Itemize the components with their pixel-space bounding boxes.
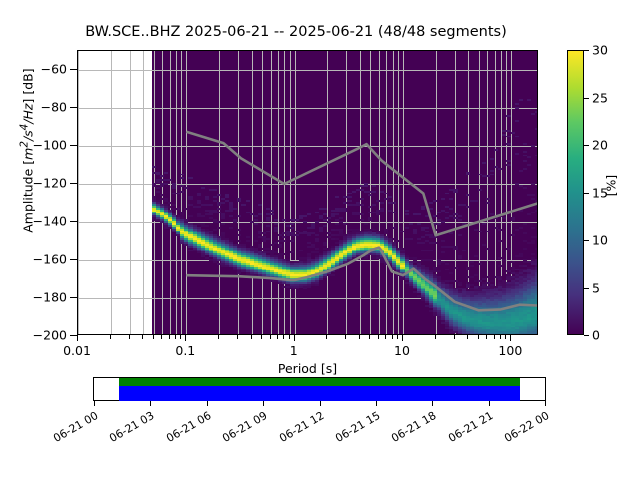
data-coverage-bar: [119, 378, 520, 386]
x-tick-minor: [369, 335, 370, 339]
y-tick: [70, 145, 77, 146]
x-tick-minor: [478, 335, 479, 339]
x-tick-minor: [378, 335, 379, 339]
colorbar-tick-label: 30: [592, 43, 608, 58]
timeline-tick: [94, 401, 95, 406]
colorbar-tick: [584, 98, 589, 99]
colorbar-tick-label: 25: [592, 90, 608, 105]
x-tick-major: [77, 335, 78, 341]
psd-segments-bar: [119, 386, 520, 401]
timeline-tick: [150, 401, 151, 406]
x-tick-minor: [180, 335, 181, 339]
y-tick: [70, 221, 77, 222]
x-tick-minor: [283, 335, 284, 339]
x-tick-minor: [161, 335, 162, 339]
timeline-tick-label: 06-21 21: [440, 409, 495, 448]
colorbar-tick: [584, 335, 589, 336]
x-tick-minor: [237, 335, 238, 339]
y-tick-label: −160: [33, 252, 67, 267]
x-tick-minor: [289, 335, 290, 339]
x-tick-minor: [110, 335, 111, 339]
x-tick-major: [185, 335, 186, 341]
timeline-tick-label: 06-21 15: [327, 409, 382, 448]
y-tick: [70, 297, 77, 298]
ppsd-plot-area[interactable]: [77, 50, 538, 335]
x-tick-major: [402, 335, 403, 341]
x-tick-minor: [326, 335, 327, 339]
x-tick-minor: [500, 335, 501, 339]
ppsd-figure: BW.SCE..BHZ 2025-06-21 -- 2025-06-21 (48…: [0, 0, 640, 480]
x-tick-minor: [397, 335, 398, 339]
x-tick-minor: [486, 335, 487, 339]
x-tick-minor: [153, 335, 154, 339]
figure-title: BW.SCE..BHZ 2025-06-21 -- 2025-06-21 (48…: [0, 24, 592, 40]
y-tick: [70, 183, 77, 184]
x-tick-minor: [142, 335, 143, 339]
x-tick-minor: [505, 335, 506, 339]
noise-model-nhnm: [186, 132, 538, 236]
x-tick-minor: [169, 335, 170, 339]
y-tick: [70, 259, 77, 260]
x-tick-minor: [435, 335, 436, 339]
x-tick-major: [294, 335, 295, 341]
timeline-axes[interactable]: [93, 377, 546, 401]
colorbar-tick-label: 10: [592, 233, 608, 248]
timeline-tick-label: 06-21 09: [215, 409, 270, 448]
x-tick-label: 100: [498, 343, 522, 358]
timeline-tick: [489, 401, 490, 406]
x-tick-minor: [261, 335, 262, 339]
timeline-tick-label: 06-22 00: [497, 409, 552, 448]
timeline-tick: [432, 401, 433, 406]
colorbar-label: [%]: [604, 141, 619, 231]
x-tick-minor: [175, 335, 176, 339]
colorbar-tick: [584, 193, 589, 194]
colorbar-tick-label: 5: [592, 280, 600, 295]
x-tick-minor: [392, 335, 393, 339]
y-tick-label: −120: [33, 176, 67, 191]
timeline-tick: [320, 401, 321, 406]
timeline-tick-label: 06-21 06: [158, 409, 213, 448]
timeline-tick: [545, 401, 546, 406]
x-tick-label: 10: [394, 343, 410, 358]
x-tick-minor: [129, 335, 130, 339]
x-tick-minor: [454, 335, 455, 339]
x-tick-label: 0.01: [63, 343, 91, 358]
noise-model-nlnm: [186, 248, 538, 311]
y-tick: [70, 335, 77, 336]
y-tick-label: −80: [41, 100, 67, 115]
y-tick-label: −140: [33, 214, 67, 229]
x-tick-label: 0.1: [175, 343, 195, 358]
x-tick-label: 1: [290, 343, 298, 358]
colorbar-tick: [584, 288, 589, 289]
timeline-tick-label: 06-21 18: [384, 409, 439, 448]
x-tick-minor: [494, 335, 495, 339]
colorbar-tick: [584, 145, 589, 146]
y-tick-label: −180: [33, 290, 67, 305]
x-tick-minor: [385, 335, 386, 339]
y-tick-label: −200: [33, 328, 67, 343]
x-tick-minor: [218, 335, 219, 339]
y-tick-label: −60: [41, 62, 67, 77]
x-tick-minor: [359, 335, 360, 339]
colorbar: [567, 50, 584, 335]
y-tick: [70, 107, 77, 108]
timeline-tick: [207, 401, 208, 406]
x-tick-minor: [467, 335, 468, 339]
timeline-tick: [376, 401, 377, 406]
colorbar-tick-label: 0: [592, 328, 600, 343]
timeline-tick: [263, 401, 264, 406]
x-axis-label: Period [s]: [77, 361, 538, 376]
x-tick-major: [510, 335, 511, 341]
y-axis-label: Amplitude [m2/s4/Hz] [dB]: [18, 26, 35, 276]
colorbar-tick: [584, 50, 589, 51]
y-tick: [70, 69, 77, 70]
y-tick-label: −100: [33, 138, 67, 153]
x-tick-minor: [251, 335, 252, 339]
timeline-tick-label: 06-21 00: [46, 409, 101, 448]
x-tick-minor: [270, 335, 271, 339]
noise-model-curves: [78, 51, 538, 335]
timeline-tick-label: 06-21 03: [102, 409, 157, 448]
colorbar-tick: [584, 240, 589, 241]
x-tick-minor: [345, 335, 346, 339]
x-tick-minor: [277, 335, 278, 339]
timeline-tick-label: 06-21 12: [271, 409, 326, 448]
